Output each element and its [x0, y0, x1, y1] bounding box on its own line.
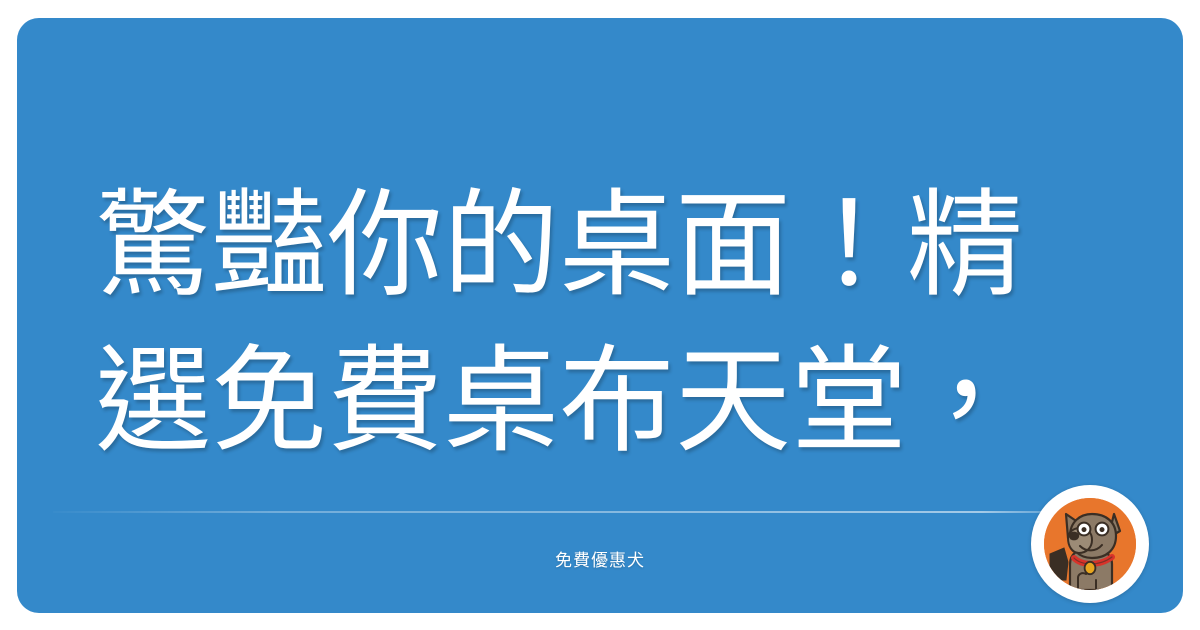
dog-icon [1044, 498, 1136, 590]
headline-line-2: 選免費桌布天堂， [95, 324, 1183, 480]
page-title: 驚豔你的桌面！精 選免費桌布天堂， [95, 168, 1183, 480]
site-name-label: 免費優惠犬 [17, 546, 1183, 571]
promo-card: 驚豔你的桌面！精 選免費桌布天堂， 免費優惠犬 [17, 18, 1183, 613]
site-logo-avatar [1031, 485, 1149, 603]
footer-divider [53, 511, 1063, 513]
headline-line-1: 驚豔你的桌面！精 [95, 168, 1183, 324]
og-image-canvas: 驚豔你的桌面！精 選免費桌布天堂， 免費優惠犬 [0, 0, 1200, 630]
